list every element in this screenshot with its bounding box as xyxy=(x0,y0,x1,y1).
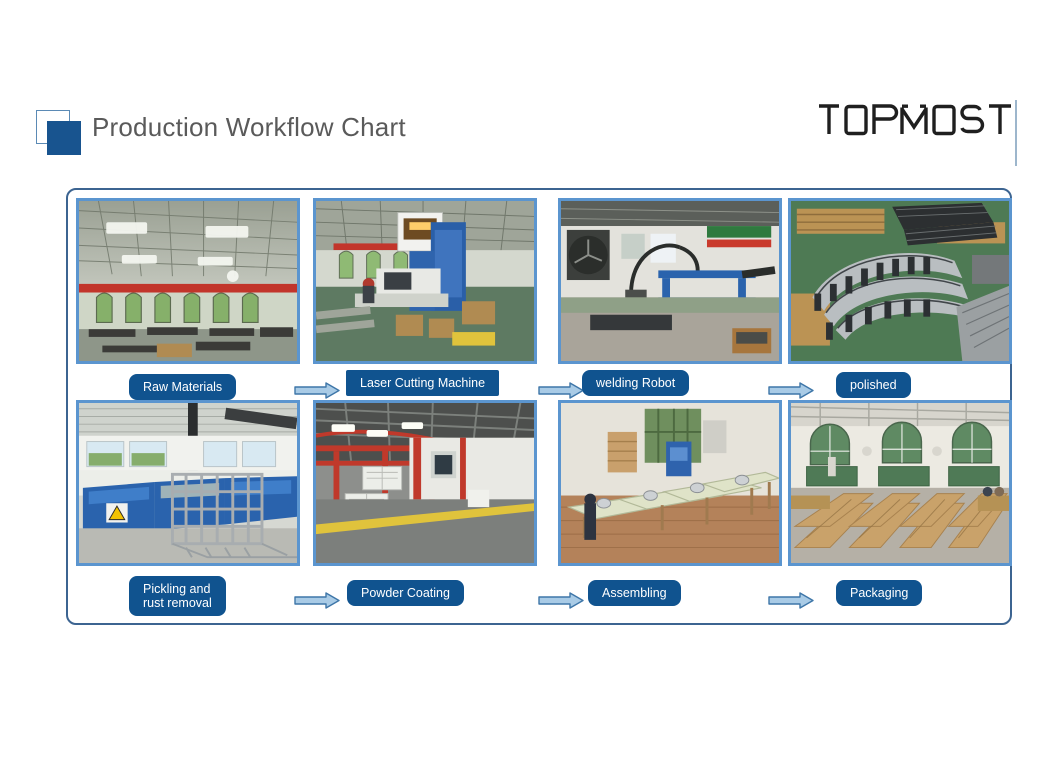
workflow-row-1: Raw Materials xyxy=(68,198,1014,403)
photo-laser-cutting-machine xyxy=(313,198,537,364)
page-header: Production Workflow Chart xyxy=(0,0,1060,180)
step-label-polished[interactable]: polished xyxy=(836,372,911,398)
logo-filled-square-icon xyxy=(47,121,81,155)
photo-welding-robot xyxy=(558,198,782,364)
step-label-laser-cutting-machine[interactable]: Laser Cutting Machine xyxy=(346,370,499,396)
workflow-step-packaging[interactable]: Packaging xyxy=(788,400,1012,605)
header-divider xyxy=(1015,100,1017,166)
workflow-step-powder-coating[interactable]: Powder Coating xyxy=(313,400,537,605)
workflow-frame: Raw Materials xyxy=(66,188,1012,625)
workflow-step-assembling[interactable]: Assembling xyxy=(558,400,782,605)
workflow-step-polished[interactable]: polished xyxy=(788,198,1012,403)
photo-raw-materials xyxy=(76,198,300,364)
photo-polished-parts xyxy=(788,198,1012,364)
step-label-powder-coating[interactable]: Powder Coating xyxy=(347,580,464,606)
brand-logo xyxy=(817,101,1013,141)
step-label-pickling-rust-removal[interactable]: Pickling and rust removal xyxy=(129,576,226,616)
photo-packaging-warehouse xyxy=(788,400,1012,566)
workflow-step-welding-robot[interactable]: welding Robot xyxy=(558,198,782,403)
step-label-welding-robot[interactable]: welding Robot xyxy=(582,370,689,396)
step-label-assembling[interactable]: Assembling xyxy=(588,580,681,606)
page-title: Production Workflow Chart xyxy=(92,112,406,143)
topmost-wordmark-final-t-icon xyxy=(987,103,1013,139)
topmost-wordmark-icon xyxy=(817,103,987,139)
workflow-row-2: Pickling and rust removal xyxy=(68,400,1014,605)
workflow-step-raw-materials[interactable]: Raw Materials xyxy=(76,198,300,403)
photo-pickling-tanks xyxy=(76,400,300,566)
step-label-packaging[interactable]: Packaging xyxy=(836,580,922,606)
photo-assembly-line xyxy=(558,400,782,566)
step-label-raw-materials[interactable]: Raw Materials xyxy=(129,374,236,400)
photo-powder-coating-line xyxy=(313,400,537,566)
workflow-step-pickling-rust-removal[interactable]: Pickling and rust removal xyxy=(76,400,300,605)
workflow-step-laser-cutting[interactable]: Laser Cutting Machine xyxy=(313,198,537,403)
